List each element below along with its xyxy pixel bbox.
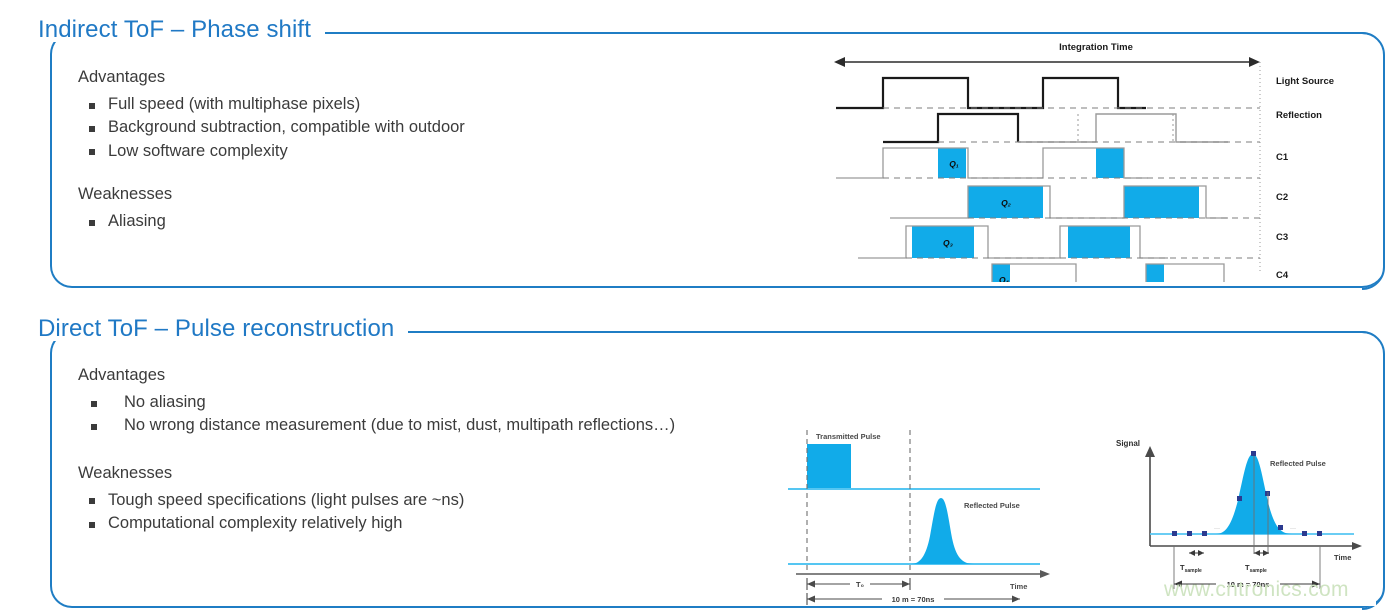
section-direct-tof-title: Direct ToF – Pulse reconstruction xyxy=(30,317,408,341)
weaknesses-label-2: Weaknesses xyxy=(78,464,675,483)
watermark: www.cntronics.com xyxy=(1164,578,1349,602)
row-label-light-source: Light Source xyxy=(1276,76,1334,87)
indirect-tof-timing-diagram: Integration Time Light Source xyxy=(828,36,1368,282)
weaknesses-list-1: Aliasing xyxy=(78,210,465,233)
svg-text:···: ··· xyxy=(1290,526,1296,532)
section-indirect-tof-title: Indirect ToF – Phase shift xyxy=(30,18,325,42)
spacer xyxy=(78,438,675,464)
list-item: Low software complexity xyxy=(78,140,465,163)
list-item: Background subtraction, compatible with … xyxy=(78,116,465,139)
weaknesses-list-2: Tough speed specifications (light pulses… xyxy=(78,489,675,536)
row-label-c1: C1 xyxy=(1276,152,1289,163)
weaknesses-label-1: Weaknesses xyxy=(78,185,465,204)
list-item: No wrong distance measurement (due to mi… xyxy=(78,414,675,437)
section-indirect-tof-content: Advantages Full speed (with multiphase p… xyxy=(78,68,465,234)
row-label-reflection: Reflection xyxy=(1276,110,1322,121)
list-item: Aliasing xyxy=(78,210,465,233)
advantages-list-2: No aliasing No wrong distance measuremen… xyxy=(78,391,675,438)
row-label-c3: C3 xyxy=(1276,232,1288,243)
row-label-c4: C4 xyxy=(1276,270,1289,281)
list-item: Full speed (with multiphase pixels) xyxy=(78,93,465,116)
charge-label-q1: Q₁ xyxy=(949,159,959,169)
charge-label-q4: Q₄ xyxy=(999,275,1010,282)
time-axis-label: Time xyxy=(1010,582,1027,591)
svg-text:···: ··· xyxy=(1214,526,1220,532)
list-item: No aliasing xyxy=(78,391,675,414)
slide-root: Indirect ToF – Phase shift Advantages Fu… xyxy=(0,0,1386,615)
integration-time-label: Integration Time xyxy=(1059,42,1133,53)
row-label-c2: C2 xyxy=(1276,192,1288,203)
transmitted-pulse-block xyxy=(807,444,851,489)
delay-label: T₀ xyxy=(856,580,864,589)
advantages-list-1: Full speed (with multiphase pixels) Back… xyxy=(78,93,465,163)
time-axis-label-right: Time xyxy=(1334,553,1351,562)
signal-axis-label: Signal xyxy=(1116,439,1140,448)
list-item: Computational complexity relatively high xyxy=(78,512,675,535)
advantages-label-1: Advantages xyxy=(78,68,465,87)
reflected-pulse-label-right: Reflected Pulse xyxy=(1270,459,1326,468)
direct-tof-pulse-diagram: Transmitted Pulse Reflected Pulse Time xyxy=(778,424,1060,606)
list-item: Tough speed specifications (light pulses… xyxy=(78,489,675,512)
reflected-pulse-label: Reflected Pulse xyxy=(964,501,1020,510)
charge-label-q3: Q₃ xyxy=(943,238,953,248)
distance-label-left: 10 m = 70ns xyxy=(892,595,935,604)
advantages-label-2: Advantages xyxy=(78,366,675,385)
charge-label-q2: Q₂ xyxy=(1001,198,1012,208)
spacer xyxy=(78,163,465,185)
transmitted-pulse-label: Transmitted Pulse xyxy=(816,432,881,441)
section-direct-tof-content: Advantages No aliasing No wrong distance… xyxy=(78,366,675,536)
